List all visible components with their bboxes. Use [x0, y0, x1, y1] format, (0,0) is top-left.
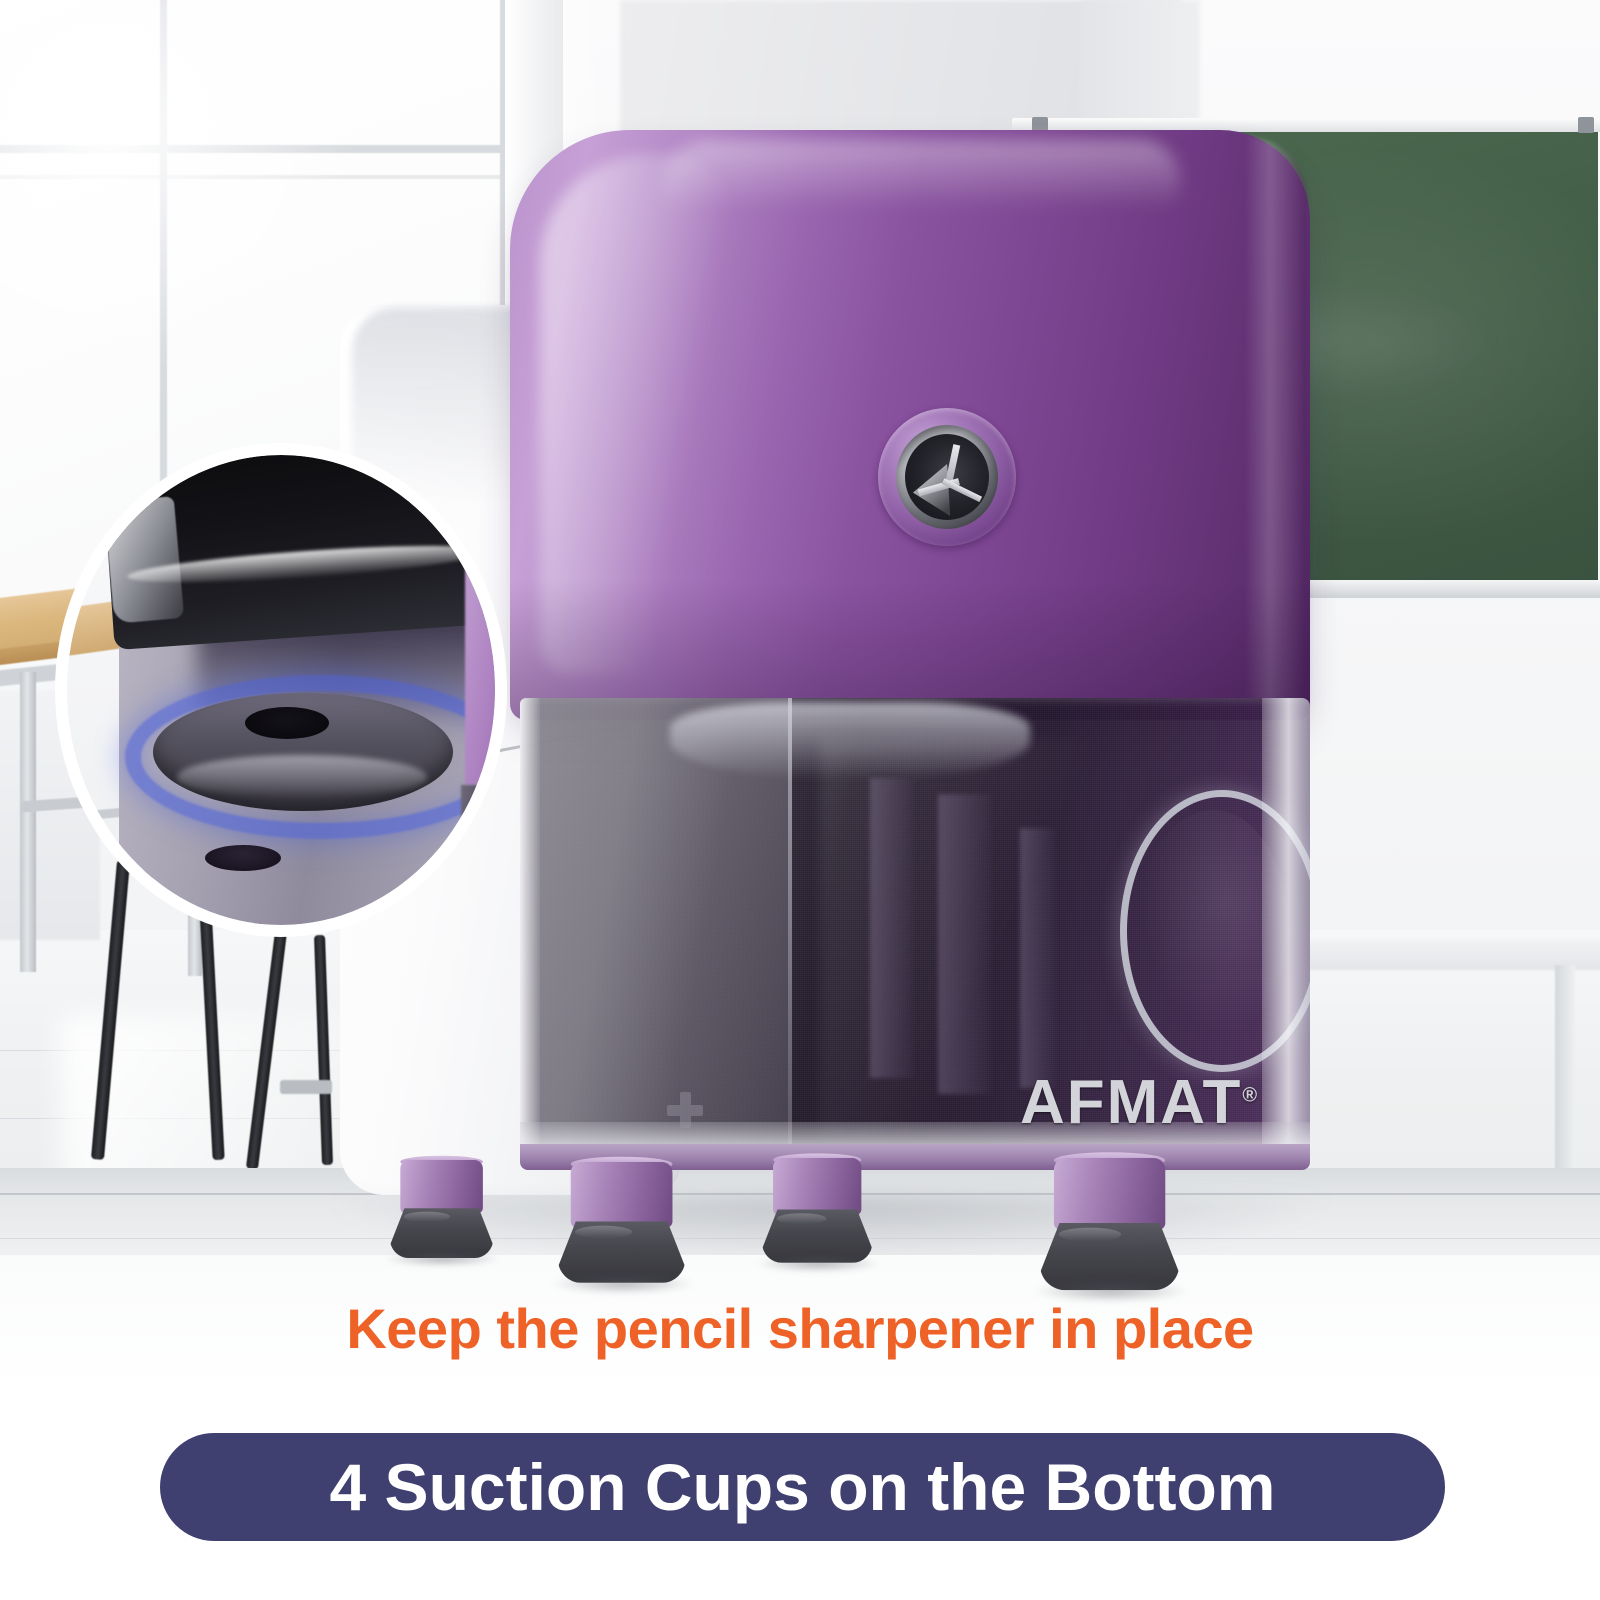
inset-purple-edge [465, 455, 495, 785]
foot-post [571, 1162, 673, 1228]
inset-suction-cup-center-hole [245, 707, 329, 739]
bin-top-gloss [670, 702, 1030, 780]
pencil-insertion-port[interactable] [878, 408, 1016, 546]
suction-cup-highlight [777, 1213, 827, 1224]
bin-divider [788, 698, 792, 1150]
plus-icon [667, 1092, 703, 1128]
shell-top-glint [660, 140, 1180, 210]
chair-foot [280, 1080, 332, 1094]
inset-base-corner-highlight [104, 496, 184, 624]
brand-logo-text: AFMAT [1020, 1068, 1242, 1137]
chalkboard-clip [1578, 117, 1594, 133]
suction-cup-shadow [385, 1251, 500, 1266]
suction-cup-shadow [756, 1256, 879, 1273]
registered-trademark-icon: ® [1242, 1084, 1257, 1106]
foot-post [773, 1158, 861, 1215]
inset-dark-edge [461, 785, 495, 925]
foot-post [1054, 1158, 1165, 1230]
suction-cup-shadow [552, 1274, 694, 1293]
feature-banner-text: 4 Suction Cups on the Bottom [330, 1454, 1276, 1520]
product-marketing-image: AFMAT® [0, 0, 1600, 1600]
inset-side-vent-hole [205, 845, 281, 871]
inset-suction-cup-highlight [177, 755, 427, 799]
bin-right-edge [1262, 698, 1310, 1150]
foot-post [400, 1160, 483, 1213]
feature-banner: 4 Suction Cups on the Bottom [160, 1433, 1445, 1541]
brand-logo: AFMAT® [1020, 1072, 1257, 1134]
suction-cup-closeup-inset [55, 443, 507, 937]
shavings-bin[interactable]: AFMAT® [520, 698, 1310, 1150]
port-hole [905, 434, 989, 520]
bin-left-edge [520, 698, 540, 1150]
window-glare [0, 0, 360, 380]
inset-clip [67, 455, 495, 925]
tagline: Keep the pencil sharpener in place [0, 1296, 1600, 1361]
desk-leg [20, 672, 36, 972]
port-ring [896, 425, 998, 529]
suction-cup-highlight [404, 1212, 450, 1222]
suction-cup-highlight [575, 1226, 632, 1239]
background-table-leg [1555, 965, 1575, 1175]
suction-cup-highlight [1059, 1228, 1122, 1242]
